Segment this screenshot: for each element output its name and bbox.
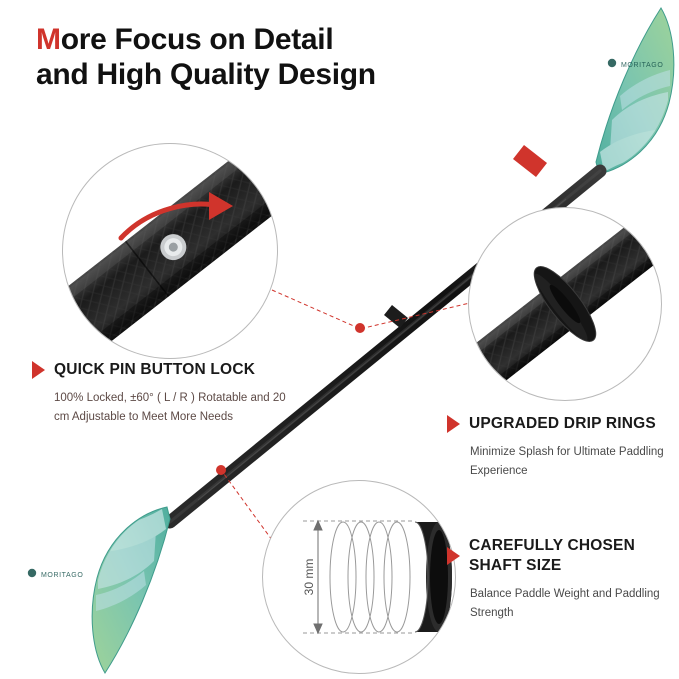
paddle-blade-bottom: MORITAGO: [28, 507, 170, 673]
headline-accent-letter: M: [36, 23, 61, 56]
svg-text:MORITAGO: MORITAGO: [41, 572, 83, 579]
feature-description: Balance Paddle Weight and Paddling Stren…: [470, 585, 672, 623]
feature-carefully-chosen-shaft-size: CAREFULLY CHOSEN SHAFT SIZE Balance Padd…: [447, 536, 672, 623]
tube-section-outlines: [330, 522, 410, 632]
feature-description: 100% Locked, ±60° ( L / R ) Rotatable an…: [54, 389, 292, 427]
feature-title: CAREFULLY CHOSEN SHAFT SIZE: [469, 536, 672, 576]
brand-logo-top: MORITAGO: [608, 59, 664, 69]
red-triangle-icon: [447, 547, 460, 565]
brand-logo-bottom: MORITAGO: [28, 569, 84, 579]
svg-text:MORITAGO: MORITAGO: [621, 62, 663, 69]
leader-dot-shaft-mid: [355, 323, 365, 333]
feature-quick-pin-button-lock: QUICK PIN BUTTON LOCK 100% Locked, ±60° …: [32, 360, 292, 427]
feature-upgraded-drip-rings: UPGRADED DRIP RINGS Minimize Splash for …: [447, 414, 672, 481]
paddle-blade-top: MORITAGO: [596, 8, 674, 174]
quick-pin-button-lock-closeup: [62, 143, 278, 359]
page-title: More Focus on Detail and High Quality De…: [36, 22, 466, 92]
feature-heading: CAREFULLY CHOSEN SHAFT SIZE: [447, 536, 672, 576]
ferrule-joint-mid: [384, 305, 408, 328]
red-triangle-icon: [32, 361, 45, 379]
feature-title: QUICK PIN BUTTON LOCK: [54, 360, 255, 380]
ferrule-lock-marker: [513, 145, 547, 177]
feature-heading: QUICK PIN BUTTON LOCK: [32, 360, 292, 380]
feature-heading: UPGRADED DRIP RINGS: [447, 414, 672, 434]
feature-title: UPGRADED DRIP RINGS: [469, 414, 656, 434]
headline-line-2: and High Quality Design: [36, 58, 376, 91]
shaft-diameter-closeup: 30 mm: [262, 480, 456, 674]
drip-ring-closeup: [468, 207, 662, 401]
headline-line-1: ore Focus on Detail: [61, 23, 334, 56]
feature-description: Minimize Splash for Ultimate Paddling Ex…: [470, 443, 672, 481]
dimension-guides: [303, 521, 413, 633]
leader-dot-shaft-lower: [216, 465, 226, 475]
product-infographic: More Focus on Detail and High Quality De…: [0, 0, 679, 679]
red-triangle-icon: [447, 415, 460, 433]
shaft-diameter-label: 30 mm: [302, 559, 316, 596]
